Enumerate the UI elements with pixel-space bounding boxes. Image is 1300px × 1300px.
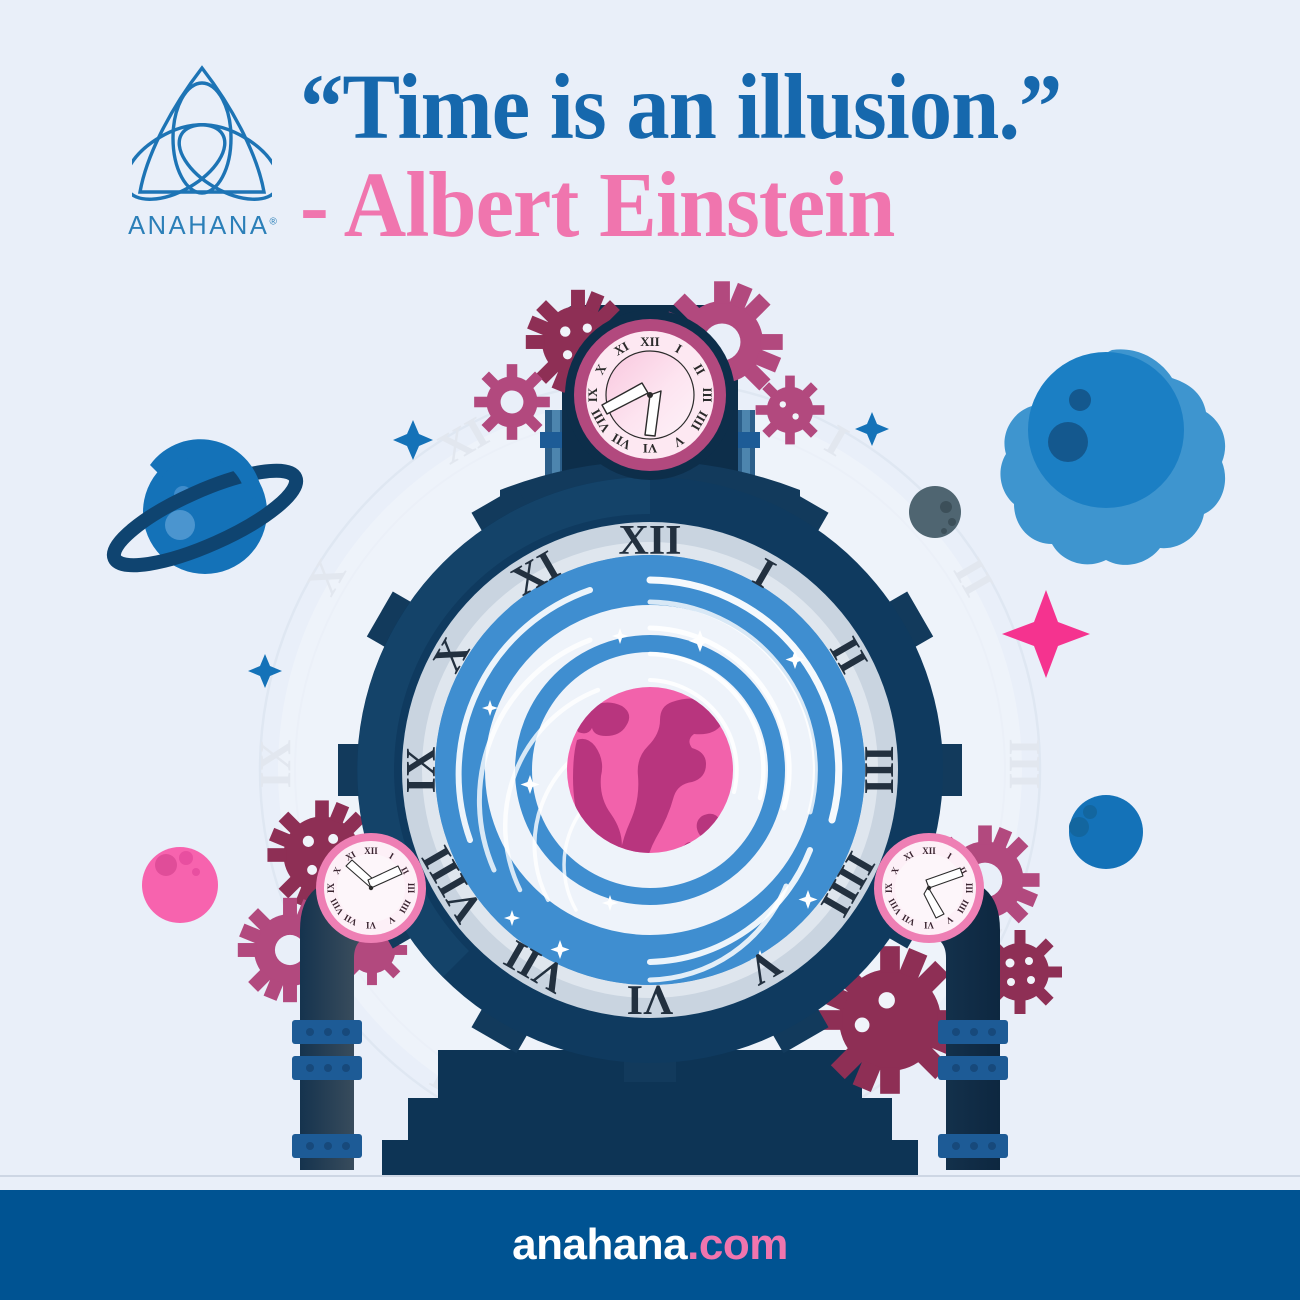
planet-pink [142, 847, 218, 923]
footer-bar: anahana.com [0, 1190, 1300, 1300]
planet-ringed [104, 439, 307, 583]
ghost-numeral: IX [251, 739, 300, 788]
brand-wordmark: ANAHANA® [110, 212, 295, 241]
ghost-numeral: III [1000, 738, 1049, 789]
numeral-IX: IX [399, 747, 445, 794]
gear-magenta-top-far-right [756, 376, 825, 445]
moon-gray [909, 486, 961, 538]
small-clock-right: XII I II III IIII V VI VII VIII IX X XI [874, 833, 984, 943]
brand-logo[interactable]: ANAHANA® [110, 62, 295, 257]
numeral-XII: XII [640, 334, 660, 349]
numeral-IX: IX [585, 387, 600, 402]
numeral-XII: XII [618, 518, 681, 564]
numeral-III: III [964, 883, 974, 894]
planet-blob [1000, 349, 1225, 565]
brand-name-text: ANAHANA [128, 212, 269, 240]
numeral-IX: IX [326, 883, 336, 894]
quote-attribution: - Albert Einstein [300, 159, 1193, 254]
triquetra-trinity-knot-icon [132, 62, 272, 202]
sparkle-pink-icon [1002, 590, 1090, 678]
quote-block: “Time is an illusion.” - Albert Einstein [300, 62, 1260, 254]
small-clock-top: XII I II III IIII V VI VII VIII IX X XI [565, 310, 735, 480]
clock-tower-illustration: XII I II III IIII V VI VII VIII IX X XI [0, 250, 1300, 1190]
numeral-IX: IX [884, 883, 894, 894]
numeral-XII: XII [922, 846, 936, 856]
numeral-VI: VI [924, 920, 934, 930]
numeral-III: III [406, 883, 416, 894]
small-clock-left: XII I II III IIII V VI VII VIII IX X XI [316, 833, 426, 943]
header: ANAHANA® “Time is an illusion.” - Albert… [0, 0, 1300, 290]
gear-magenta-top-far-left [474, 364, 550, 440]
numeral-III: III [855, 745, 901, 794]
numeral-XII: XII [364, 846, 378, 856]
illustration-svg: XII I II III IIII V VI VII VIII IX X XI [0, 250, 1300, 1190]
numeral-VI: VI [627, 976, 674, 1022]
site-tld-text: .com [687, 1220, 788, 1269]
website-url[interactable]: anahana.com [512, 1220, 788, 1270]
numeral-III: III [700, 387, 715, 402]
numeral-VI: VI [366, 920, 376, 930]
numeral-VI: VI [643, 441, 657, 456]
quote-text: “Time is an illusion.” [300, 62, 1193, 153]
site-name-text: anahana [512, 1220, 687, 1269]
poster-canvas: ANAHANA® “Time is an illusion.” - Albert… [0, 0, 1300, 1300]
trademark-symbol: ® [270, 217, 277, 228]
planet-small-blue [1069, 795, 1143, 869]
